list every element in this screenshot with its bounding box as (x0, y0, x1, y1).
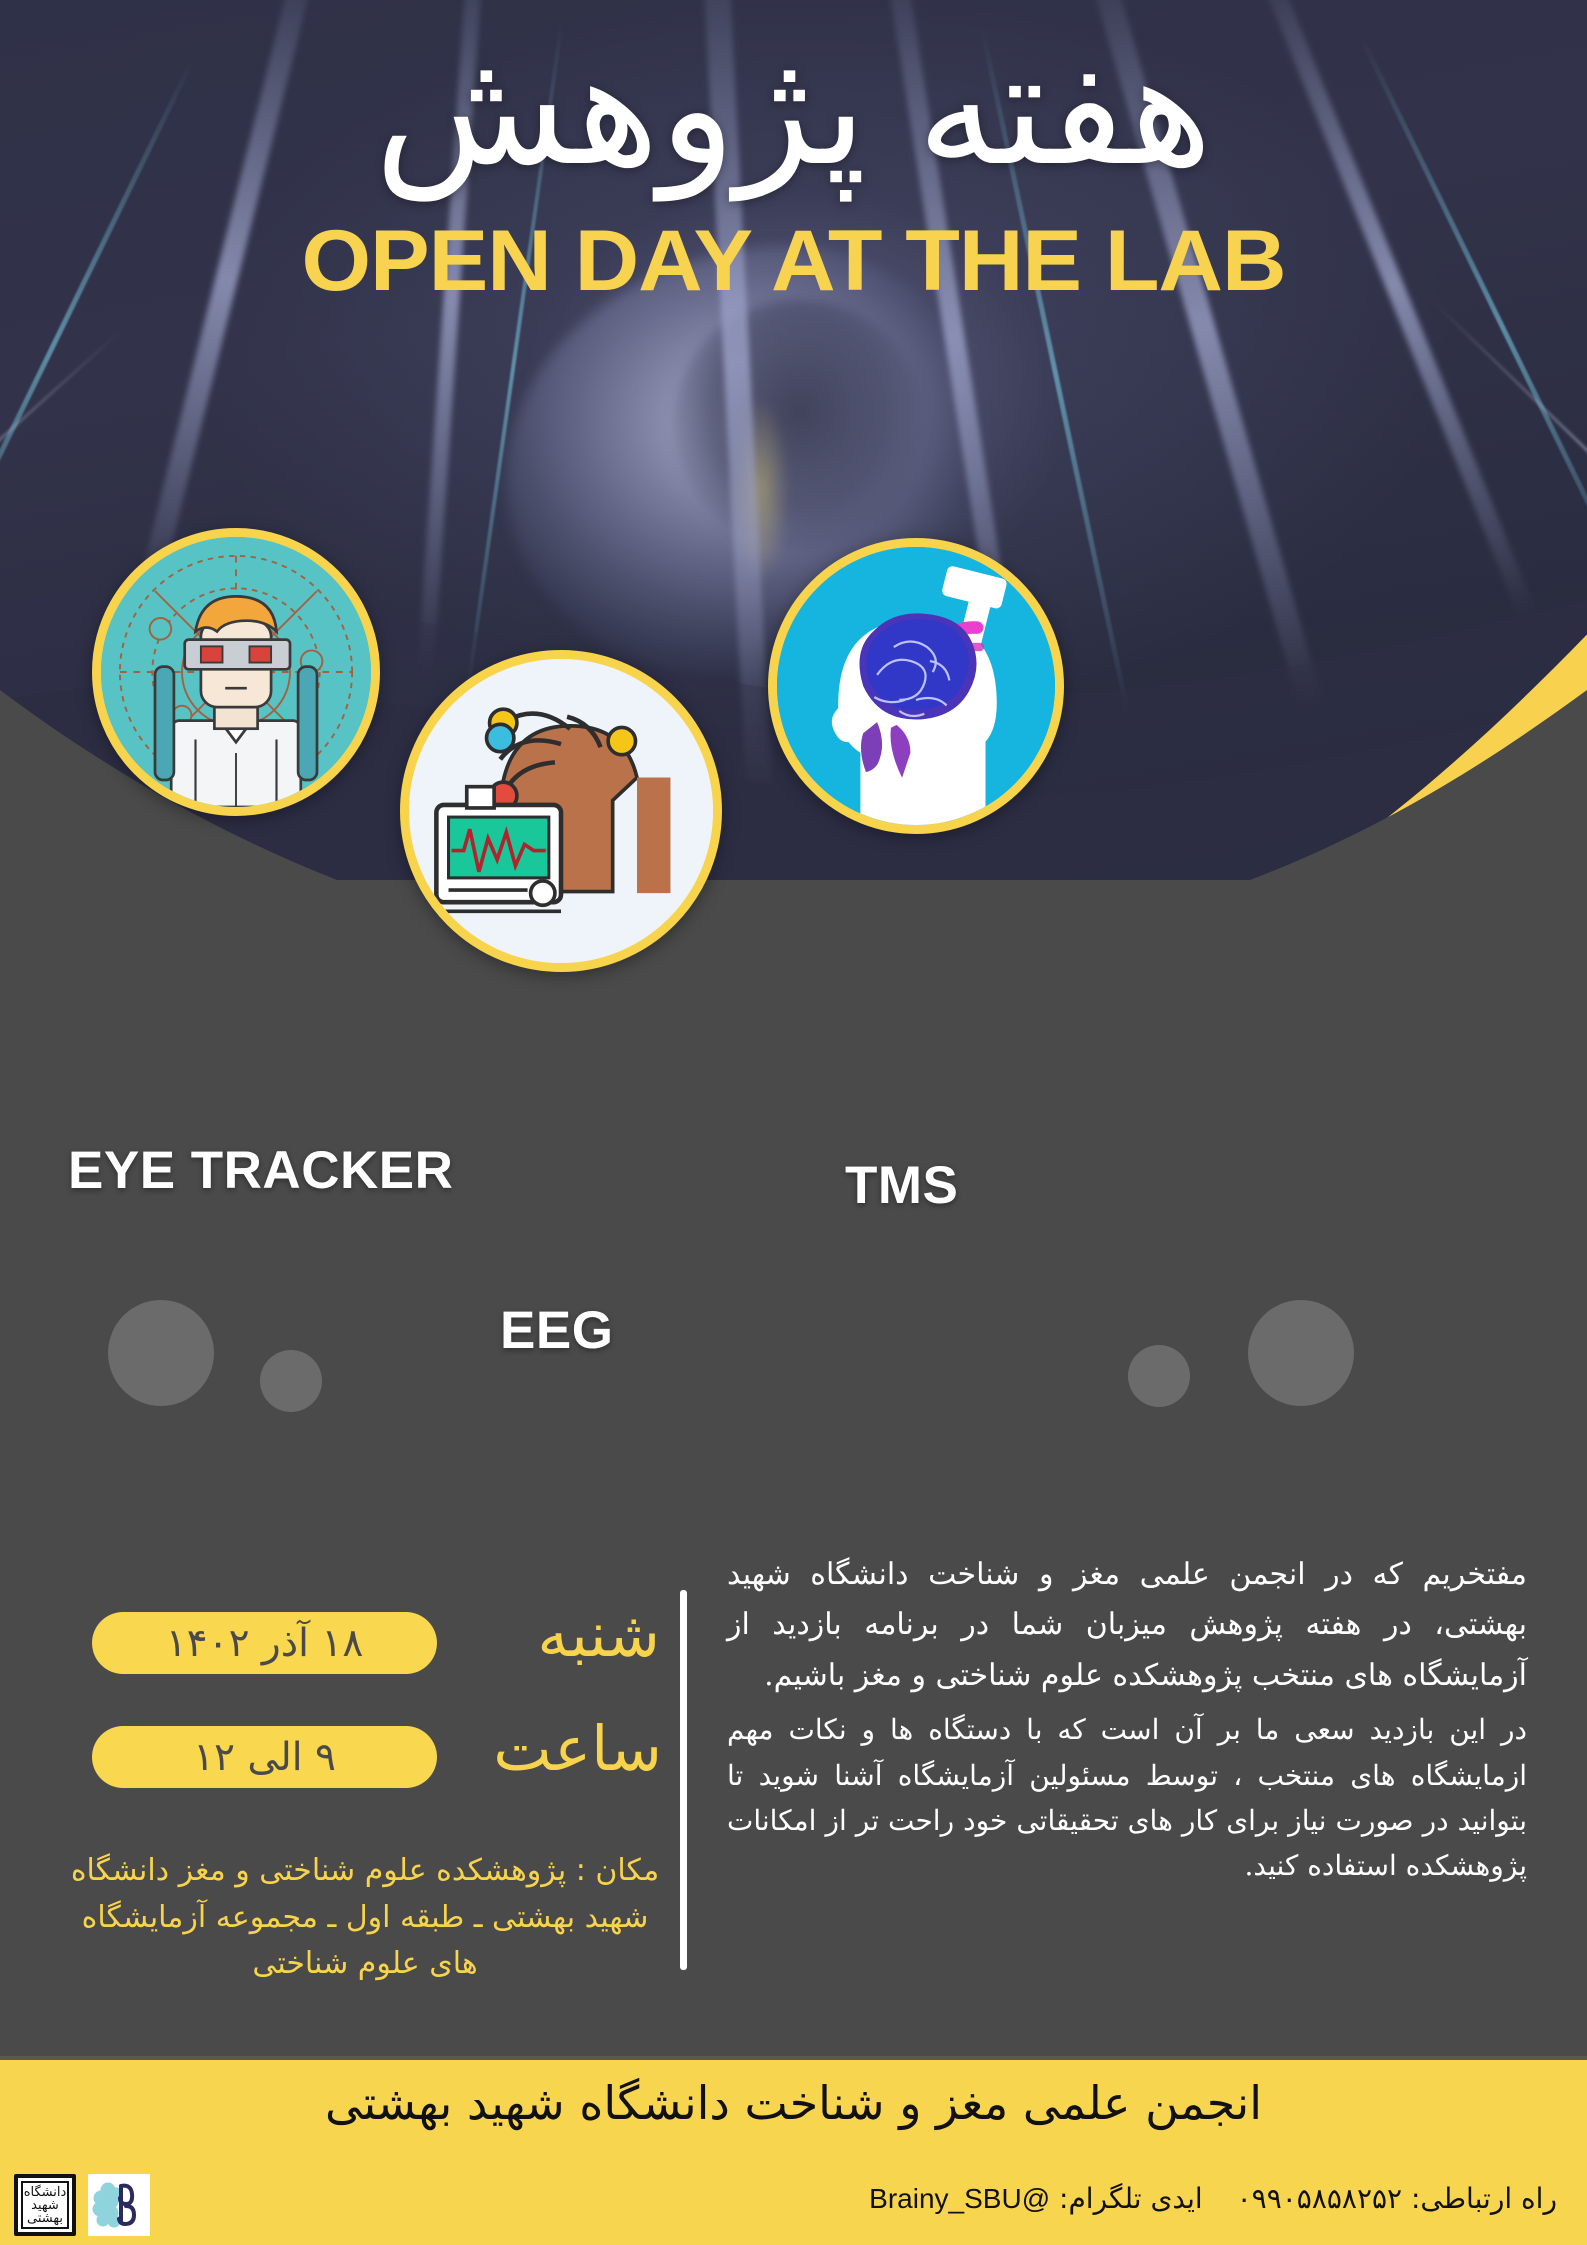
telegram-label: ایدی تلگرام: (1059, 2182, 1203, 2215)
contact-phone: ۰۹۹۰۵۸۵۸۲۵۲ (1237, 2182, 1402, 2215)
decorative-bubble (1248, 1300, 1354, 1406)
decorative-bubble (108, 1300, 214, 1406)
vertical-divider (680, 1590, 687, 1970)
eeg-icon (400, 650, 722, 972)
tms-icon (768, 538, 1064, 834)
eeg-label: EEG (500, 1300, 613, 1361)
description-paragraph-1: مفتخریم که در انجمن علمی مغز و شناخت دان… (727, 1550, 1527, 1701)
eye-tracker-icon (92, 528, 380, 816)
brain-association-logo (88, 2174, 150, 2236)
description-block: مفتخریم که در انجمن علمی مغز و شناخت دان… (727, 1550, 1527, 1889)
page-title-fa: هفته پژوهش (0, 30, 1587, 188)
phone-group: راه ارتباطی: ۰۹۹۰۵۸۵۸۲۵۲ (1237, 2182, 1557, 2215)
telegram-group[interactable]: ایدی تلگرام: @Brainy_SBU (869, 2182, 1202, 2215)
decorative-bubble (260, 1350, 322, 1412)
location-text: مکان : پژوهشکده علوم شناختی و مغز دانشگا… (70, 1848, 660, 1988)
sbu-logo-text: دانشگاه شهید بهشتی (21, 2181, 69, 2229)
eye-tracker-label: EYE TRACKER (68, 1140, 453, 1201)
time-pill: ۹ الی ۱۲ (92, 1726, 437, 1788)
description-paragraph-2: در این بازدید سعی ما بر آن است که با دست… (727, 1707, 1527, 1888)
sbu-university-logo: دانشگاه شهید بهشتی (14, 2174, 76, 2236)
date-pill: ۱۸ آذر ۱۴۰۲ (92, 1612, 437, 1674)
contact-row: راه ارتباطی: ۰۹۹۰۵۸۵۸۲۵۲ ایدی تلگرام: @B… (869, 2182, 1557, 2215)
contact-label: راه ارتباطی: (1411, 2182, 1557, 2215)
tms-label: TMS (845, 1155, 958, 1216)
telegram-handle[interactable]: @Brainy_SBU (869, 2183, 1050, 2214)
day-label: شنبه (500, 1598, 660, 1671)
decorative-bubble (1128, 1345, 1190, 1407)
organization-name: انجمن علمی مغز و شناخت دانشگاه شهید بهشت… (0, 2076, 1587, 2130)
poster-root: هفته پژوهش OPEN DAY AT THE LAB (0, 0, 1587, 2245)
page-title-en: OPEN DAY AT THE LAB (0, 218, 1587, 304)
time-label: ساعت (482, 1712, 662, 1785)
